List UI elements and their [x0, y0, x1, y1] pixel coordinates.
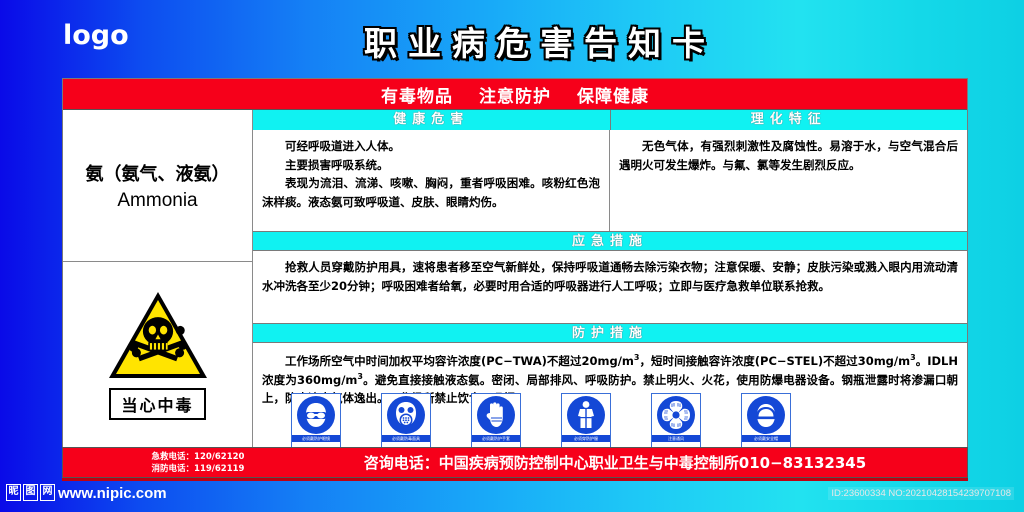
- ppe-label-gloves: 必须戴防护手套: [472, 435, 520, 442]
- brand-char-3: 网: [40, 484, 55, 501]
- footer-watermark: 昵 图 网 www.nipic.com ID:23600334 NO:20210…: [0, 478, 1024, 512]
- warning-sign-label: 当心中毒: [109, 388, 205, 420]
- health-hazard-line-1: 可经呼吸道进入人体。: [262, 137, 600, 156]
- physico-chemical-text: 无色气体，有强烈刺激性及腐蚀性。易溶于水，与空气混合后遇明火可发生爆炸。与氟、氯…: [610, 130, 967, 231]
- slogan-part-3: 保障健康: [577, 82, 649, 107]
- emergency-body: 抢救人员穿戴防护用具，速将患者移至空气新鲜处，保持呼吸道通畅去除污染衣物；注意保…: [262, 258, 958, 295]
- ppe-label-protective-clothing: 必须穿防护服: [562, 435, 610, 442]
- fire-phone-label: 消防电话：: [152, 464, 195, 474]
- protection-part-2: ，短时间接触容许浓度(PC−STEL)不超过30mg/m: [639, 354, 910, 368]
- safety-helmet-icon: [747, 396, 785, 434]
- health-hazard-line-2: 主要损害呼吸系统。: [262, 156, 600, 175]
- safety-gloves-icon: [477, 396, 515, 434]
- section-header-protection: 防护措施: [253, 323, 967, 343]
- card-header: logo 职业病危害告知卡: [0, 0, 1024, 75]
- gas-mask-icon: [387, 396, 425, 434]
- main-panel: 有毒物品 注意防护 保障健康 氨（氨气、液氨） Ammonia: [62, 78, 968, 478]
- brand-char-1: 昵: [6, 484, 21, 501]
- emergency-phone-number: 120/62120: [194, 452, 244, 462]
- ventilation-fan-icon: [657, 396, 695, 434]
- emergency-phone-label: 急救电话：: [152, 452, 195, 462]
- page-title: 职业病危害告知卡: [220, 17, 860, 65]
- brand-char-2: 图: [23, 484, 38, 501]
- slogan-part-2: 注意防护: [479, 82, 551, 107]
- substance-name-box: 氨（氨气、液氨） Ammonia: [63, 110, 252, 262]
- ppe-label-helmet: 必须戴安全帽: [742, 435, 790, 442]
- emergency-text: 抢救人员穿戴防护用具，速将患者移至空气新鲜处，保持呼吸道通畅去除污染衣物；注意保…: [253, 251, 967, 323]
- protective-clothing-icon: [567, 396, 605, 434]
- nipic-url: www.nipic.com: [58, 485, 167, 502]
- protection-part-1: 工作场所空气中时间加权平均容许浓度(PC−TWA)不超过20mg/m: [285, 354, 634, 368]
- physico-chemical-body: 无色气体，有强烈刺激性及腐蚀性。易溶于水，与空气混合后遇明火可发生爆炸。与氟、氯…: [619, 137, 958, 174]
- section-header-emergency: 应急措施: [253, 231, 967, 251]
- hazard-notification-card: logo 职业病危害告知卡 有毒物品 注意防护 保障健康 氨（氨气、液氨） Am…: [0, 0, 1024, 512]
- section-body-row-1: 可经呼吸道进入人体。 主要损害呼吸系统。 表现为流泪、流涕、咳嗽、胸闷，重者呼吸…: [253, 130, 967, 231]
- company-logo: logo: [63, 20, 129, 51]
- nipic-brand-logo: 昵 图 网: [6, 484, 55, 501]
- slogan-bar: 有毒物品 注意防护 保障健康: [63, 79, 967, 110]
- contact-bar: 急救电话：120/62120 消防电话：119/62119 咨询电话：中国疾病预…: [62, 447, 968, 478]
- section-header-physico-chemical: 理化特征: [611, 110, 968, 130]
- skull-and-crossbones-icon: [106, 289, 210, 381]
- image-id-watermark: ID:23600334 NO:20210428154239707108: [828, 487, 1014, 500]
- emergency-phone-line: 急救电话：120/62120: [103, 451, 293, 463]
- fire-phone-line: 消防电话：119/62119: [103, 463, 293, 475]
- emergency-phone-block: 急救电话：120/62120 消防电话：119/62119: [63, 451, 293, 475]
- warning-sign-box: 当心中毒: [63, 262, 252, 447]
- ppe-label-gas-mask: 必须戴防毒面具: [382, 435, 430, 442]
- health-hazard-text: 可经呼吸道进入人体。 主要损害呼吸系统。 表现为流泪、流涕、咳嗽、胸闷，重者呼吸…: [253, 130, 610, 231]
- health-hazard-line-3: 表现为流泪、流涕、咳嗽、胸闷，重者呼吸困难。咳粉红色泡沫样痰。液态氨可致呼吸道、…: [262, 174, 600, 211]
- section-headers-row: 健康危害 理化特征: [253, 110, 967, 130]
- left-column: 氨（氨气、液氨） Ammonia: [63, 110, 253, 447]
- ppe-label-ventilation: 注意通风: [652, 435, 700, 442]
- ppe-label-goggles: 必须戴防护眼镜: [292, 435, 340, 442]
- footer-red-strip: [62, 478, 968, 481]
- slogan-part-1: 有毒物品: [381, 82, 453, 107]
- substance-name-cn: 氨（氨气、液氨）: [86, 160, 230, 186]
- safety-goggles-icon: [297, 396, 335, 434]
- section-header-health-hazard: 健康危害: [253, 110, 611, 130]
- substance-name-en: Ammonia: [117, 190, 197, 212]
- fire-phone-number: 119/62119: [194, 464, 244, 474]
- consultation-phone-text: 咨询电话：中国疾病预防控制中心职业卫生与中毒控制所010−83132345: [293, 452, 967, 473]
